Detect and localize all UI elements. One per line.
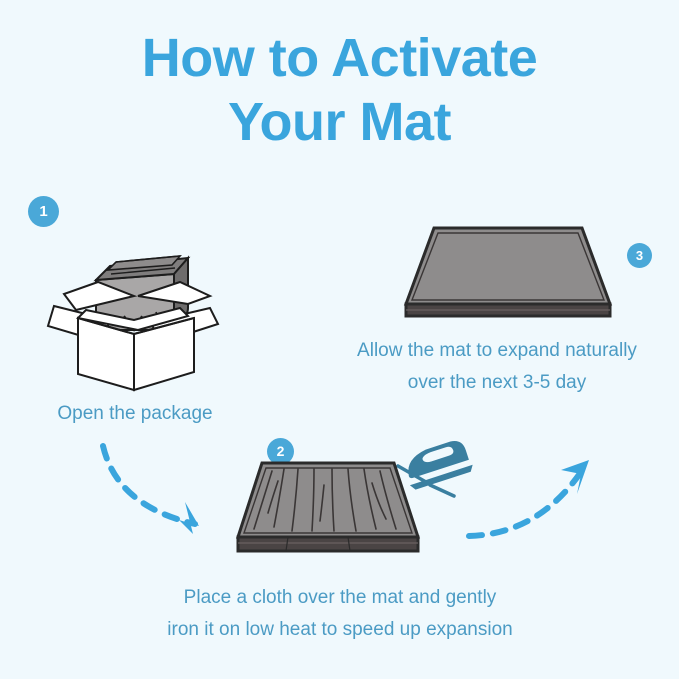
step-3-caption-line-2: over the next 3-5 day [315, 367, 679, 399]
page-title: How to Activate Your Mat [0, 26, 679, 154]
step-1-caption: Open the package [10, 398, 260, 430]
step-3-caption: Allow the mat to expand naturally over t… [315, 335, 679, 399]
flat-mat-illustration [390, 218, 625, 328]
dashed-arrow-left-icon [95, 440, 225, 545]
open-box-illustration [38, 212, 238, 392]
step-2-caption: Place a cloth over the mat and gently ir… [90, 582, 590, 646]
wrinkled-mat-illustration [228, 455, 428, 565]
step-badge-3: 3 [627, 243, 652, 268]
infographic-canvas: How to Activate Your Mat 1 [0, 0, 679, 679]
dashed-arrow-right-icon [465, 440, 605, 545]
step-2-caption-line-1: Place a cloth over the mat and gently [90, 582, 590, 614]
step-1-caption-line-1: Open the package [10, 398, 260, 430]
title-line-1: How to Activate [0, 26, 679, 90]
step-2-caption-line-2: iron it on low heat to speed up expansio… [90, 614, 590, 646]
title-line-2: Your Mat [0, 90, 679, 154]
step-3-caption-line-1: Allow the mat to expand naturally [315, 335, 679, 367]
